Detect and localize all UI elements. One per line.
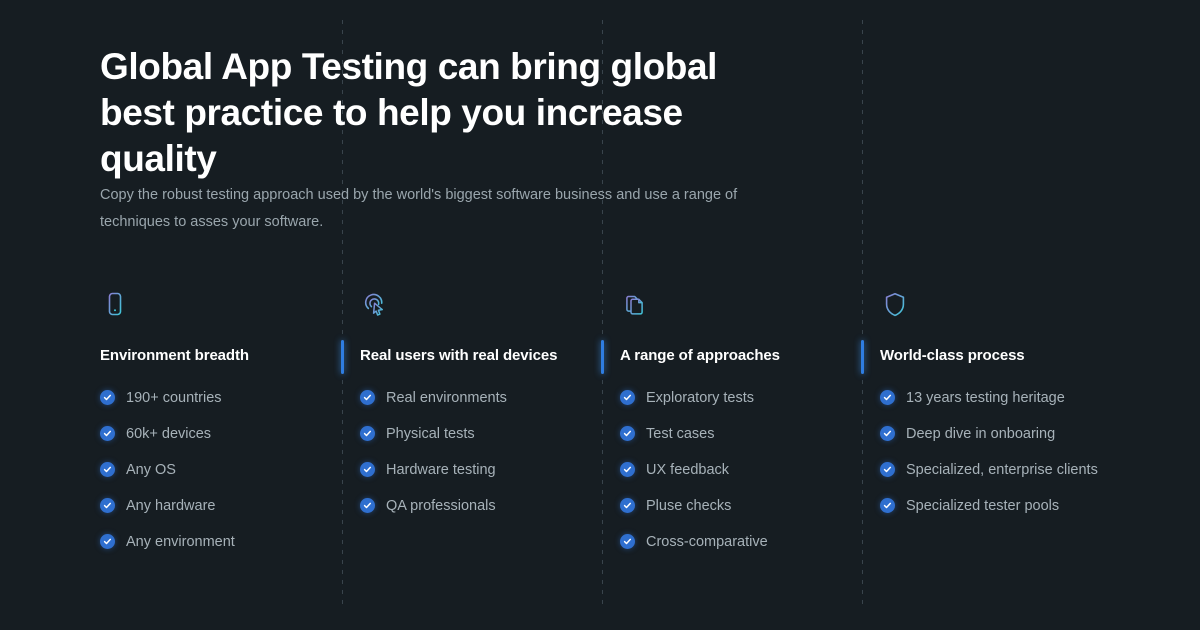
list-item-label: Any environment	[126, 532, 235, 552]
cursor-click-target-icon	[360, 290, 595, 320]
list-item-label: 13 years testing heritage	[906, 388, 1065, 408]
list-item-label: Test cases	[646, 424, 715, 444]
check-icon	[620, 462, 635, 477]
column-title: A range of approaches	[620, 346, 855, 366]
list-item: Specialized tester pools	[880, 496, 1115, 516]
check-icon	[100, 426, 115, 441]
list-item-label: Real environments	[386, 388, 507, 408]
list-item-label: Exploratory tests	[646, 388, 754, 408]
feature-list: 13 years testing heritage Deep dive in o…	[880, 388, 1115, 516]
list-item: 60k+ devices	[100, 424, 335, 444]
list-item-label: Any OS	[126, 460, 176, 480]
check-icon	[360, 426, 375, 441]
check-icon	[620, 390, 635, 405]
list-item: QA professionals	[360, 496, 595, 516]
list-item: Any environment	[100, 532, 335, 552]
check-icon	[100, 462, 115, 477]
feature-column-approaches: A range of approaches Exploratory tests …	[620, 290, 855, 552]
list-item-label: UX feedback	[646, 460, 729, 480]
list-item: Pluse checks	[620, 496, 855, 516]
copy-documents-icon	[620, 290, 855, 320]
list-item: Any OS	[100, 460, 335, 480]
check-icon	[620, 498, 635, 513]
list-item-label: Physical tests	[386, 424, 475, 444]
check-icon	[100, 534, 115, 549]
page-subtitle: Copy the robust testing approach used by…	[100, 182, 790, 236]
feature-list: 190+ countries 60k+ devices Any OS Any h…	[100, 388, 335, 552]
mobile-phone-icon	[100, 290, 335, 320]
list-item: Hardware testing	[360, 460, 595, 480]
column-title: Real users with real devices	[360, 346, 595, 366]
check-icon	[100, 498, 115, 513]
list-item-label: Any hardware	[126, 496, 215, 516]
list-item-label: QA professionals	[386, 496, 496, 516]
list-item-label: Cross-comparative	[646, 532, 768, 552]
list-item: Cross-comparative	[620, 532, 855, 552]
list-item: Specialized, enterprise clients	[880, 460, 1115, 480]
divider-highlight	[341, 340, 344, 374]
check-icon	[360, 390, 375, 405]
check-icon	[620, 534, 635, 549]
check-icon	[880, 390, 895, 405]
check-icon	[620, 426, 635, 441]
check-icon	[100, 390, 115, 405]
check-icon	[360, 498, 375, 513]
check-icon	[880, 498, 895, 513]
list-item-label: Specialized tester pools	[906, 496, 1059, 516]
list-item-label: 190+ countries	[126, 388, 222, 408]
column-title: Environment breadth	[100, 346, 335, 366]
column-divider-3	[862, 20, 863, 605]
list-item: Any hardware	[100, 496, 335, 516]
feature-column-real-users: Real users with real devices Real enviro…	[360, 290, 595, 516]
list-item: 13 years testing heritage	[880, 388, 1115, 408]
list-item-label: Hardware testing	[386, 460, 496, 480]
feature-list: Exploratory tests Test cases UX feedback…	[620, 388, 855, 552]
list-item: Deep dive in onboaring	[880, 424, 1115, 444]
feature-section: Global App Testing can bring global best…	[0, 0, 1200, 630]
list-item: Physical tests	[360, 424, 595, 444]
list-item-label: Pluse checks	[646, 496, 731, 516]
list-item: UX feedback	[620, 460, 855, 480]
list-item: Test cases	[620, 424, 855, 444]
divider-highlight	[601, 340, 604, 374]
list-item: Real environments	[360, 388, 595, 408]
check-icon	[880, 426, 895, 441]
shield-icon	[880, 290, 1115, 320]
list-item-label: Specialized, enterprise clients	[906, 460, 1098, 480]
divider-highlight	[861, 340, 864, 374]
feature-list: Real environments Physical tests Hardwar…	[360, 388, 595, 516]
check-icon	[360, 462, 375, 477]
check-icon	[880, 462, 895, 477]
list-item-label: 60k+ devices	[126, 424, 211, 444]
column-title: World-class process	[880, 346, 1115, 366]
feature-column-world-class-process: World-class process 13 years testing her…	[880, 290, 1115, 516]
list-item: Exploratory tests	[620, 388, 855, 408]
feature-column-environment-breadth: Environment breadth 190+ countries 60k+ …	[100, 290, 335, 552]
list-item-label: Deep dive in onboaring	[906, 424, 1055, 444]
list-item: 190+ countries	[100, 388, 335, 408]
page-title: Global App Testing can bring global best…	[100, 44, 800, 182]
